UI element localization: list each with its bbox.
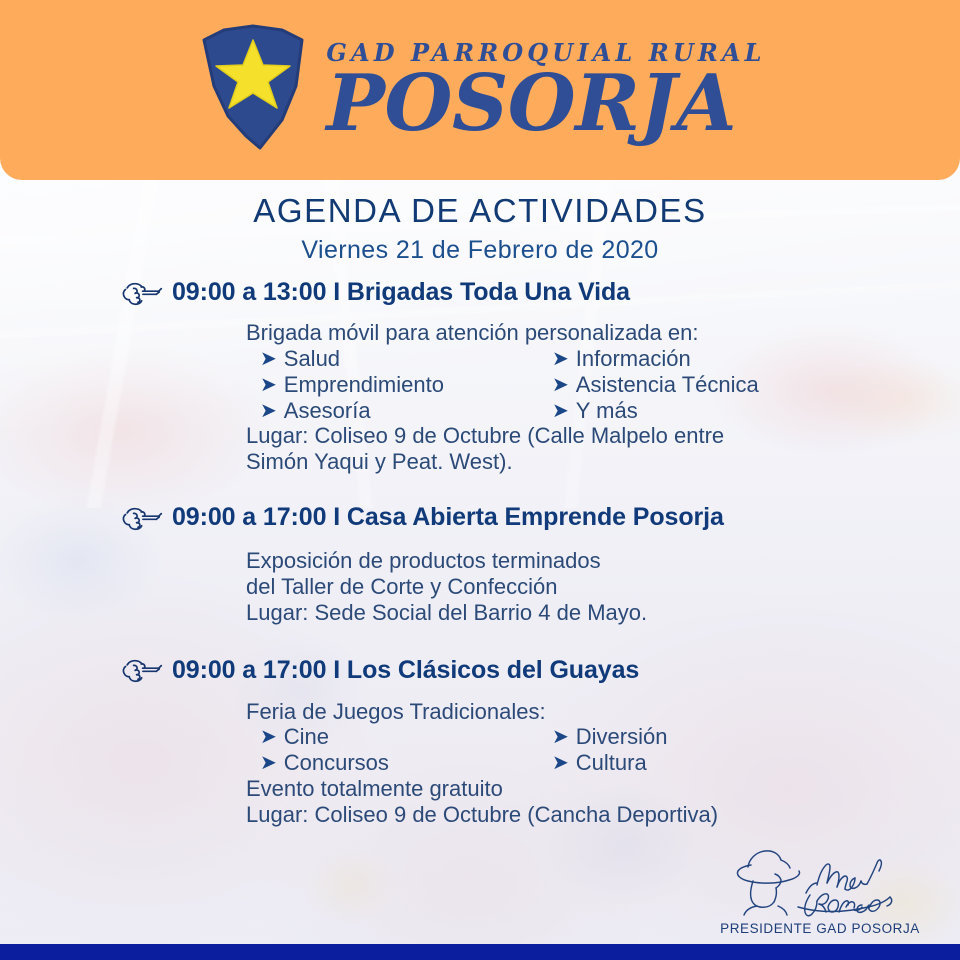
- chevron-right-icon: ➤: [260, 349, 277, 369]
- event-title: 09:00 a 17:00 I Casa Abierta Emprende Po…: [172, 503, 724, 532]
- bottom-bar: [0, 944, 960, 960]
- event-body: Brigada móvil para atención personalizad…: [40, 320, 920, 475]
- posorja-shield-icon: [194, 24, 312, 154]
- event-detail-line: Evento totalmente gratuito: [246, 776, 920, 802]
- bullet-item: ➤Salud: [246, 346, 538, 372]
- bullet-item: ➤Asistencia Técnica: [538, 372, 920, 398]
- event-body: Feria de Juegos Tradicionales: ➤Cine ➤Di…: [40, 699, 920, 828]
- chevron-right-icon: ➤: [552, 375, 569, 395]
- event-detail-line: Simón Yaqui y Peat. West).: [246, 449, 920, 475]
- agenda-event: 09:00 a 17:00 I Los Clásicos del Guayas …: [40, 656, 920, 828]
- event-intro: Brigada móvil para atención personalizad…: [246, 320, 920, 346]
- bullet-item: ➤Y más: [538, 398, 920, 424]
- page-title: AGENDA DE ACTIVIDADES: [0, 192, 960, 230]
- bullet-label: Concursos: [284, 750, 389, 776]
- chevron-right-icon: ➤: [552, 727, 569, 747]
- signature-caption: PRESIDENTE GAD POSORJA: [720, 921, 920, 936]
- bullet-item: ➤Información: [538, 346, 920, 372]
- header-banner: GAD PARROQUIAL RURAL POSORJA: [0, 0, 960, 180]
- bullet-label: Cine: [284, 724, 329, 750]
- signature-block: PRESIDENTE GAD POSORJA: [720, 845, 920, 936]
- event-detail-line: Lugar: Sede Social del Barrio 4 de Mayo.: [246, 600, 920, 626]
- bullet-label: Salud: [284, 346, 340, 372]
- agenda-list: 09:00 a 13:00 I Brigadas Toda Una Vida B…: [0, 278, 960, 832]
- chevron-right-icon: ➤: [260, 727, 277, 747]
- chevron-right-icon: ➤: [260, 375, 277, 395]
- event-title: 09:00 a 17:00 I Los Clásicos del Guayas: [172, 656, 639, 685]
- event-header: 09:00 a 17:00 I Los Clásicos del Guayas: [40, 656, 920, 685]
- event-title: 09:00 a 13:00 I Brigadas Toda Una Vida: [172, 278, 630, 307]
- chevron-right-icon: ➤: [552, 349, 569, 369]
- chevron-right-icon: ➤: [260, 401, 277, 421]
- event-intro: Feria de Juegos Tradicionales:: [246, 699, 920, 725]
- event-body: Exposición de productos terminados del T…: [40, 548, 920, 626]
- bullet-label: Información: [576, 346, 691, 372]
- manuel-romero-signature-icon: [722, 845, 918, 919]
- bullet-label: Emprendimiento: [284, 372, 444, 398]
- title-block: AGENDA DE ACTIVIDADES Viernes 21 de Febr…: [0, 192, 960, 265]
- agenda-event: 09:00 a 13:00 I Brigadas Toda Una Vida B…: [40, 278, 920, 475]
- event-detail-line: Exposición de productos terminados: [246, 548, 920, 574]
- pointing-hand-icon: [120, 280, 164, 308]
- event-header: 09:00 a 13:00 I Brigadas Toda Una Vida: [40, 278, 920, 307]
- event-detail-line: Lugar: Coliseo 9 de Octubre (Calle Malpe…: [246, 423, 920, 449]
- bullet-item: ➤Asesoría: [246, 398, 538, 424]
- poster-canvas: GAD PARROQUIAL RURAL POSORJA AGENDA DE A…: [0, 0, 960, 960]
- page-subtitle: Viernes 21 de Febrero de 2020: [0, 236, 960, 265]
- event-bullet-grid: ➤Cine ➤Diversión ➤Concursos ➤Cultura: [246, 724, 920, 776]
- event-detail-line: del Taller de Corte y Confección: [246, 574, 920, 600]
- brand-lockup: GAD PARROQUIAL RURAL POSORJA: [194, 24, 765, 154]
- bullet-label: Cultura: [576, 750, 647, 776]
- bullet-item: ➤Cine: [246, 724, 538, 750]
- bullet-label: Asesoría: [284, 398, 371, 424]
- event-detail-line: Lugar: Coliseo 9 de Octubre (Cancha Depo…: [246, 802, 920, 828]
- bullet-item: ➤Diversión: [538, 724, 920, 750]
- chevron-right-icon: ➤: [552, 753, 569, 773]
- bullet-label: Diversión: [576, 724, 668, 750]
- event-header: 09:00 a 17:00 I Casa Abierta Emprende Po…: [40, 503, 920, 532]
- bullet-item: ➤Concursos: [246, 750, 538, 776]
- pointing-hand-icon: [120, 657, 164, 685]
- chevron-right-icon: ➤: [260, 753, 277, 773]
- bullet-item: ➤Emprendimiento: [246, 372, 538, 398]
- brand-wordmark: GAD PARROQUIAL RURAL POSORJA: [326, 38, 765, 140]
- bullet-label: Asistencia Técnica: [576, 372, 759, 398]
- bullet-label: Y más: [576, 398, 638, 424]
- brand-name: POSORJA: [326, 68, 736, 140]
- agenda-event: 09:00 a 17:00 I Casa Abierta Emprende Po…: [40, 503, 920, 626]
- event-bullet-grid: ➤Salud ➤Información ➤Emprendimiento ➤Asi…: [246, 346, 920, 424]
- chevron-right-icon: ➤: [552, 401, 569, 421]
- bullet-item: ➤Cultura: [538, 750, 920, 776]
- pointing-hand-icon: [120, 505, 164, 533]
